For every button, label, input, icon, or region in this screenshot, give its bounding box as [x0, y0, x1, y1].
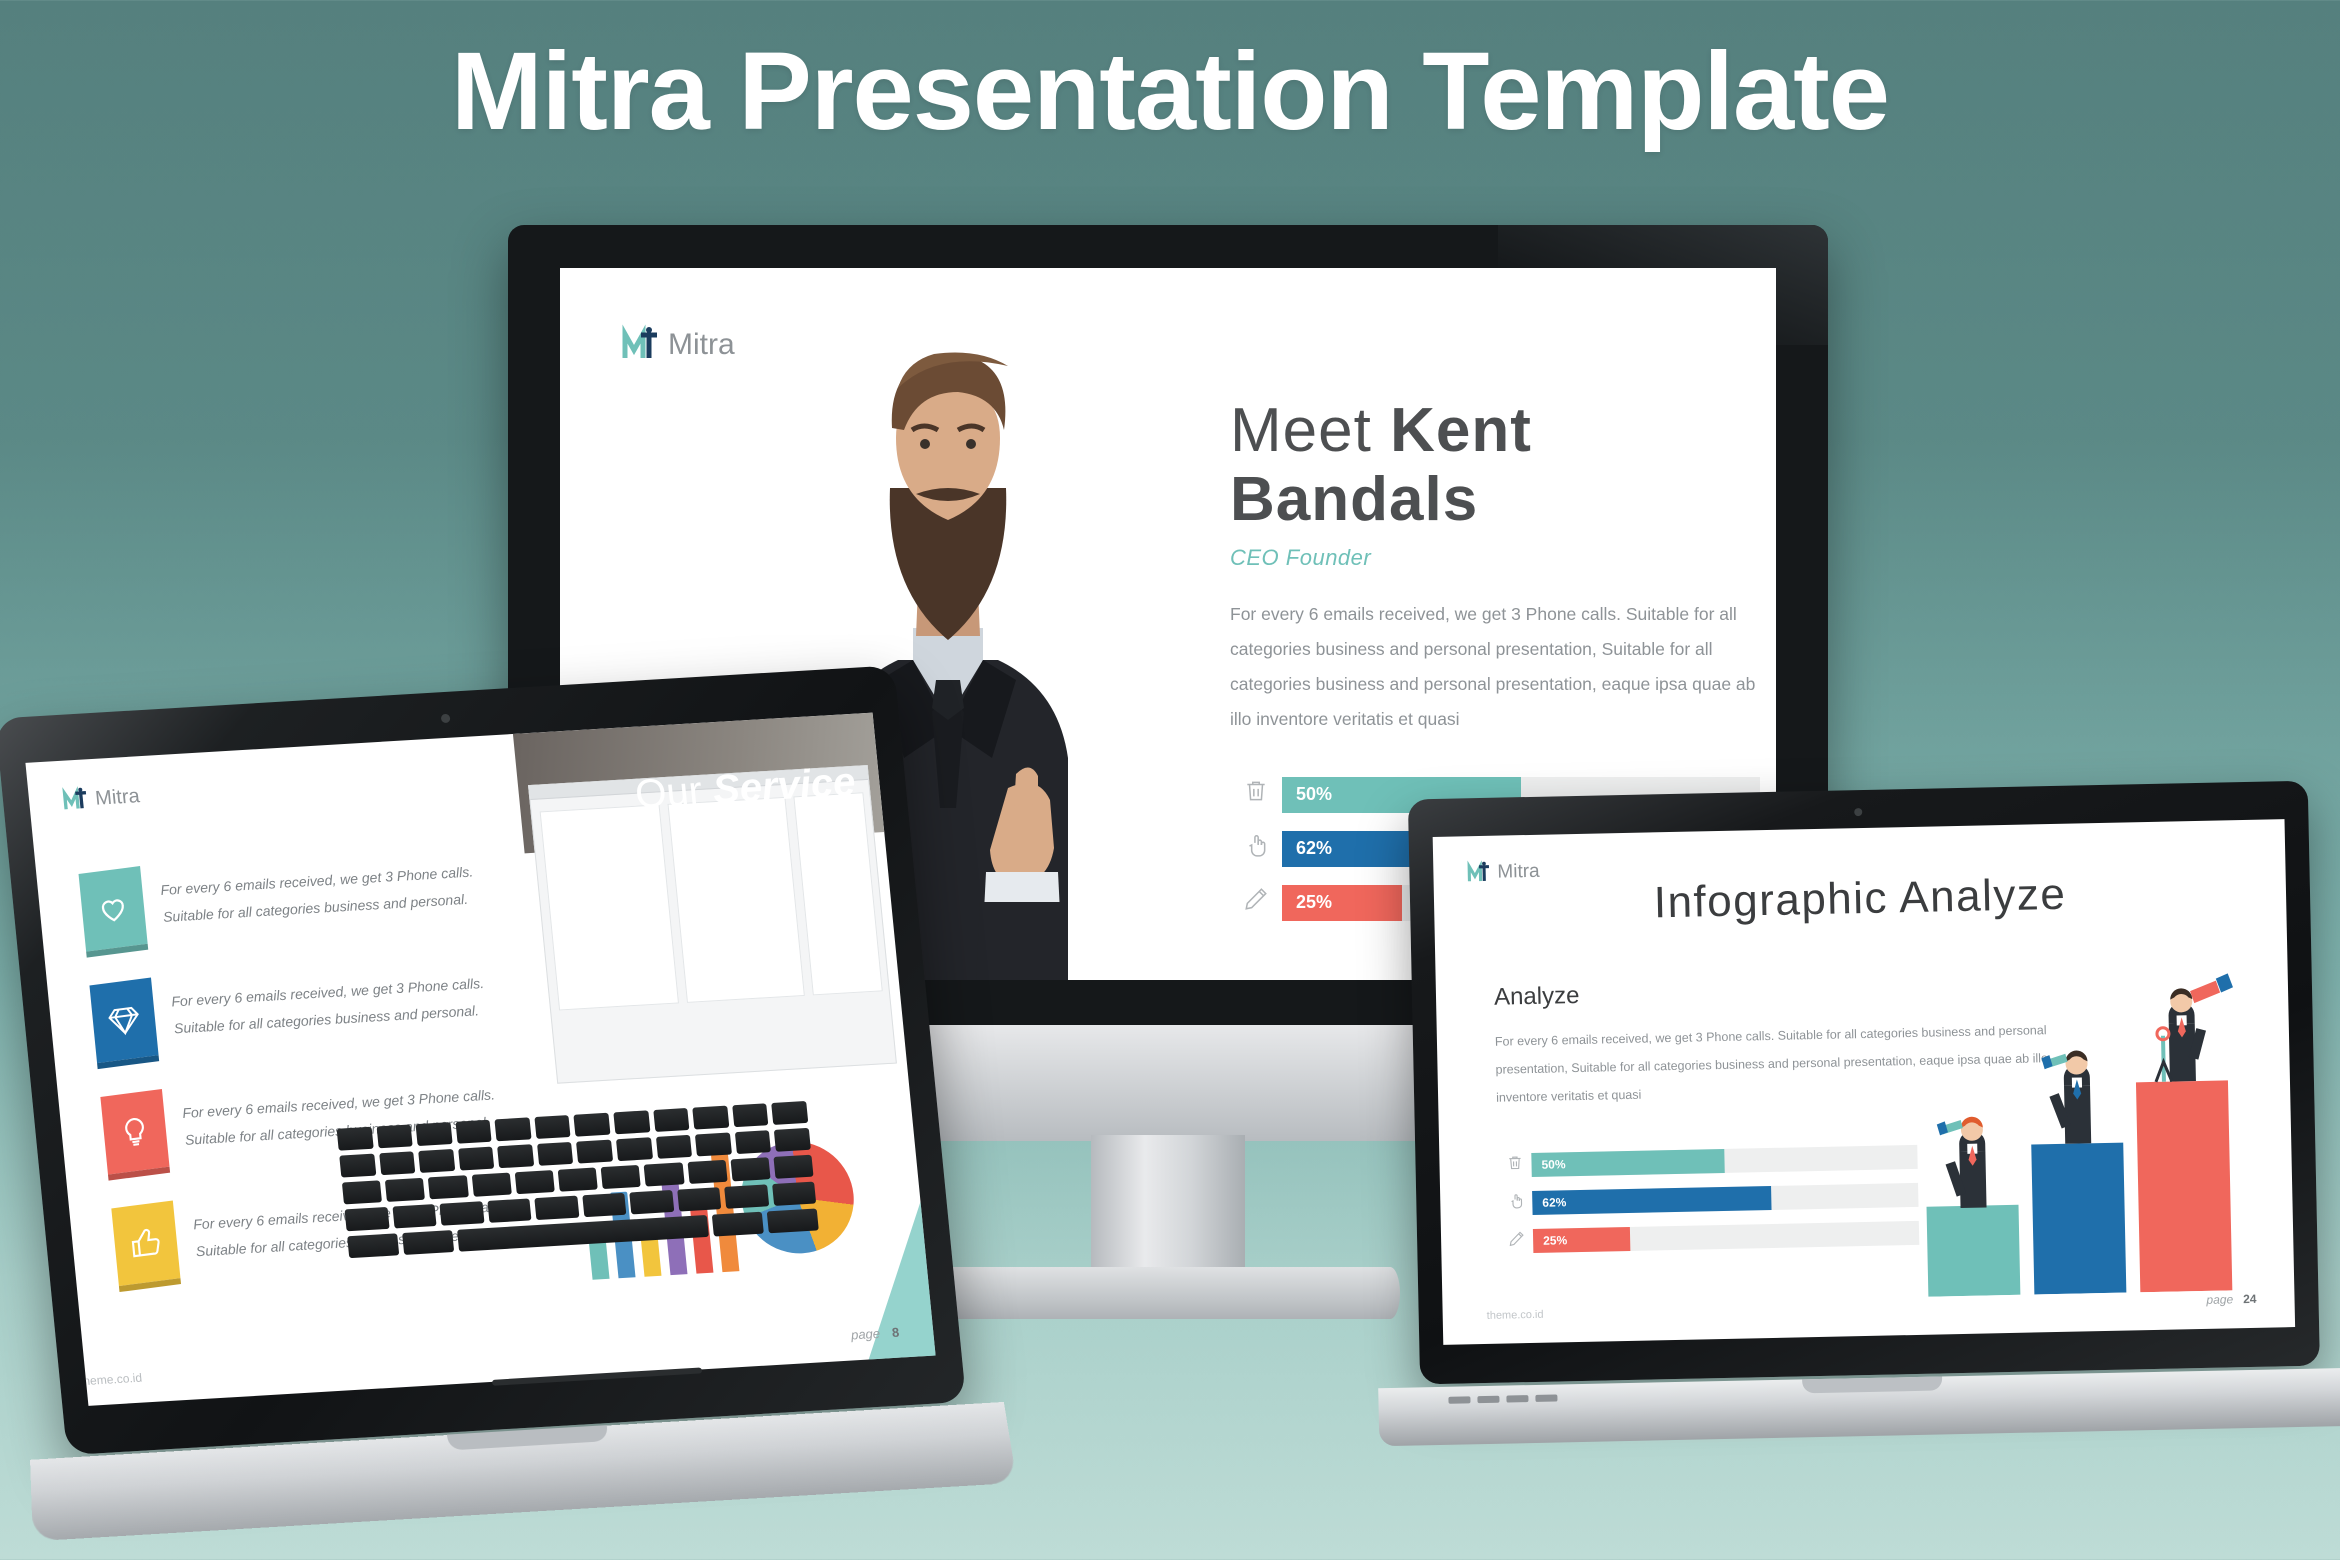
app-panel-left: [540, 804, 679, 1010]
progress-fill: 25%: [1533, 1227, 1630, 1253]
progress-fill: 25%: [1282, 885, 1402, 921]
businessmen-telescope-illustration: [1904, 969, 2281, 1297]
list-item[interactable]: For every 6 emails received, we get 3 Ph…: [89, 958, 516, 1061]
hand-pointer-icon: [1230, 832, 1282, 865]
right-laptop-mockup: Mitra Infographic Analyze Analyze For ev…: [1408, 781, 2322, 1490]
footer-site-link[interactable]: theme.co.id: [79, 1371, 142, 1389]
slide-logo: Mitra: [62, 782, 141, 814]
port: [1506, 1395, 1528, 1402]
left-laptop-mockup: Mitra Our Service: [0, 665, 975, 1544]
figure-left: [1937, 1116, 1987, 1208]
port: [1535, 1394, 1557, 1401]
progress-label: 25%: [1282, 892, 1332, 913]
progress-fill: 50%: [1531, 1149, 1724, 1177]
hand-pointer-icon: [1498, 1192, 1532, 1215]
diamond-icon: [89, 978, 158, 1064]
progress-bar-row: 50%: [1497, 1145, 1917, 1178]
progress-track: 50%: [1531, 1145, 1917, 1177]
port: [1448, 1396, 1470, 1403]
list-item-text: For every 6 emails received, we get 3 Ph…: [140, 847, 504, 933]
progress-label: 62%: [1532, 1195, 1566, 1210]
thumbs-up-icon: [111, 1200, 180, 1286]
heading-line2: Bandals: [1230, 465, 1478, 534]
mitra-logo-mark: [62, 785, 93, 815]
page-label: page: [2206, 1292, 2233, 1307]
progress-track: 62%: [1532, 1183, 1918, 1215]
heading-thin: Meet: [1230, 396, 1390, 465]
section-heading: Analyze: [1494, 982, 1580, 1012]
infographic-analyze-slide[interactable]: Mitra Infographic Analyze Analyze For ev…: [1433, 819, 2295, 1345]
page-number: 8: [879, 1325, 900, 1341]
footer-site-link[interactable]: theme.co.id: [1487, 1309, 1544, 1322]
figure-middle: [2041, 1050, 2091, 1144]
page-title: Mitra Presentation Template: [0, 28, 2340, 155]
progress-label: 50%: [1282, 784, 1332, 805]
list-item[interactable]: For every 6 emails received, we get 3 Ph…: [78, 847, 505, 950]
progress-label: 62%: [1282, 838, 1332, 859]
progress-bar-row: 25%: [1499, 1221, 1919, 1254]
list-item-text: For every 6 emails received, we get 3 Ph…: [151, 958, 515, 1044]
lightbulb-icon: [100, 1089, 169, 1175]
slide-heading: Meet Kent Bandals: [1230, 396, 1760, 535]
mitra-logo-mark: [622, 324, 664, 366]
progress-fill: 62%: [1532, 1186, 1772, 1215]
figure-right: [2154, 973, 2235, 1082]
slide-subtitle-role: CEO Founder: [1230, 545, 1760, 571]
laptop-lid-notch: [1802, 1376, 1942, 1393]
slide-paragraph: For every 6 emails received, we get 3 Ph…: [1230, 597, 1760, 737]
trash-icon: [1230, 778, 1282, 811]
heart-icon: [79, 866, 148, 952]
title-thin: Our: [633, 768, 715, 816]
footer-page-number: page24: [2206, 1292, 2256, 1307]
heading-bold: Kent: [1390, 396, 1532, 465]
progress-track: 25%: [1533, 1221, 1919, 1253]
pencil-icon: [1499, 1230, 1533, 1253]
podium-illustration: [1904, 969, 2281, 1297]
progress-bar-group: 50% 62%: [1497, 1145, 1919, 1268]
monitor-stand-foot: [936, 1267, 1400, 1319]
slide-title: Infographic Analyze: [1434, 865, 2287, 933]
pencil-icon: [1230, 886, 1282, 919]
page-number: 24: [2233, 1292, 2257, 1306]
podium-blue: [2031, 1143, 2126, 1295]
progress-label: 50%: [1531, 1157, 1565, 1172]
logo-wordmark: Mitra: [94, 785, 141, 811]
podium-teal: [1927, 1205, 2021, 1297]
monitor-stand-neck: [1091, 1135, 1245, 1285]
progress-label: 25%: [1533, 1233, 1567, 1248]
port: [1477, 1396, 1499, 1403]
footer-page-number: page8: [850, 1325, 900, 1343]
podium-red: [2136, 1080, 2232, 1292]
laptop-keyboard: [337, 1101, 831, 1378]
app-panel-mid: [667, 797, 804, 1003]
progress-bar-row: 62%: [1498, 1183, 1918, 1216]
page-label: page: [850, 1326, 880, 1343]
title-bold: Service: [711, 760, 857, 812]
app-panel-right: [793, 792, 882, 995]
trash-icon: [1497, 1154, 1531, 1177]
